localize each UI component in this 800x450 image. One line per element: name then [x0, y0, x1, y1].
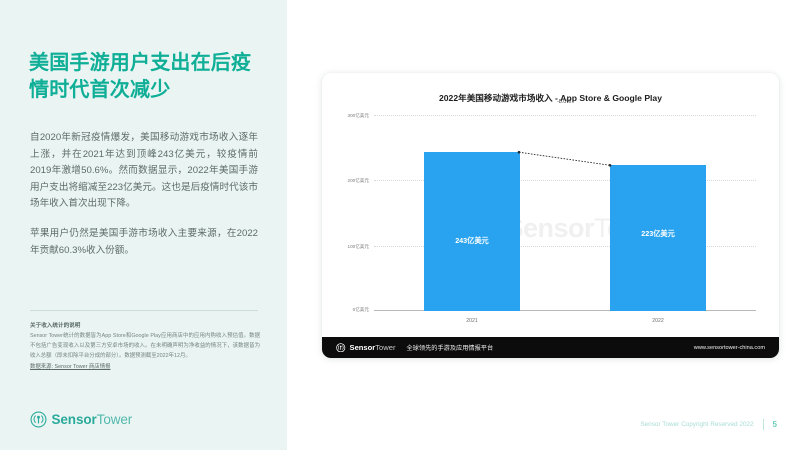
left-panel: 美国手游用户支出在后疫情时代首次减少 自2020年新冠疫情爆发，美国移动游戏市场…	[0, 0, 287, 450]
x-tick-label-2022: 2022	[610, 318, 706, 324]
y-tick-label-100: 100亿美元	[348, 244, 369, 250]
brand-logo-light: Tower	[97, 412, 133, 427]
slide-canvas: 美国手游用户支出在后疫情时代首次减少 自2020年新冠疫情爆发，美国移动游戏市场…	[0, 0, 800, 450]
chart-footer-brand-light: Tower	[375, 343, 395, 352]
chart-footer-tagline: 全球领先的手游及应用情报平台	[407, 343, 494, 352]
trend-connector-line	[374, 115, 756, 311]
footer-divider	[763, 419, 764, 430]
footnote-body: Sensor Tower统计的数据皆为App Store和Google Play…	[30, 332, 260, 361]
brand-logo-wordmark: SensorTower	[52, 412, 133, 427]
page-title: 美国手游用户支出在后疫情时代首次减少	[29, 50, 269, 104]
body-paragraph-1: 自2020年新冠疫情爆发，美国移动游戏市场收入逐年上涨，并在2021年达到顶峰2…	[30, 130, 258, 213]
chart-plot-area: 300亿美元 200亿美元 100亿美元 0亿美元	[374, 115, 756, 311]
slide-footer: Sensor Tower Copyright Reserved 2022 5	[640, 419, 777, 430]
x-tick-label-2021: 2021	[424, 318, 520, 324]
chart-footer-brand-bold: Sensor	[350, 343, 376, 352]
page-number: 5	[773, 420, 777, 429]
sensor-tower-antenna-icon	[336, 343, 346, 353]
chart-card: 2022年美国移动游戏市场收入 - App Store & Google Pla…	[322, 73, 779, 358]
copyright-text: Sensor Tower Copyright Reserved 2022	[640, 421, 753, 428]
chart-footer-bar: SensorTower 全球领先的手游及应用情报平台 www.sensortow…	[322, 337, 779, 358]
footnote-block: 关于收入统计的说明 Sensor Tower统计的数据皆为App Store和G…	[30, 322, 260, 373]
footnote-source: 数据来源: Sensor Tower 商店情报	[30, 363, 260, 373]
footnote-title: 关于收入统计的说明	[30, 322, 260, 331]
y-tick-label-0: 0亿美元	[353, 307, 369, 313]
sensor-tower-antenna-icon	[30, 411, 47, 428]
chart-footer-wordmark: SensorTower	[350, 343, 396, 352]
chart-footer-brand: SensorTower	[336, 343, 396, 353]
brand-logo: SensorTower	[30, 411, 132, 428]
y-tick-label-300: 300亿美元	[348, 113, 369, 119]
body-paragraph-2: 苹果用户仍然是美国手游市场收入主要来源，在2022年贡献60.3%收入份额。	[30, 226, 258, 259]
y-tick-label-200: 200亿美元	[348, 178, 369, 184]
yoy-change-annotation: -8.0%	[539, 99, 589, 105]
divider	[30, 310, 258, 311]
chart-footer-url[interactable]: www.sensortower-china.com	[694, 345, 765, 351]
brand-logo-bold: Sensor	[52, 412, 97, 427]
